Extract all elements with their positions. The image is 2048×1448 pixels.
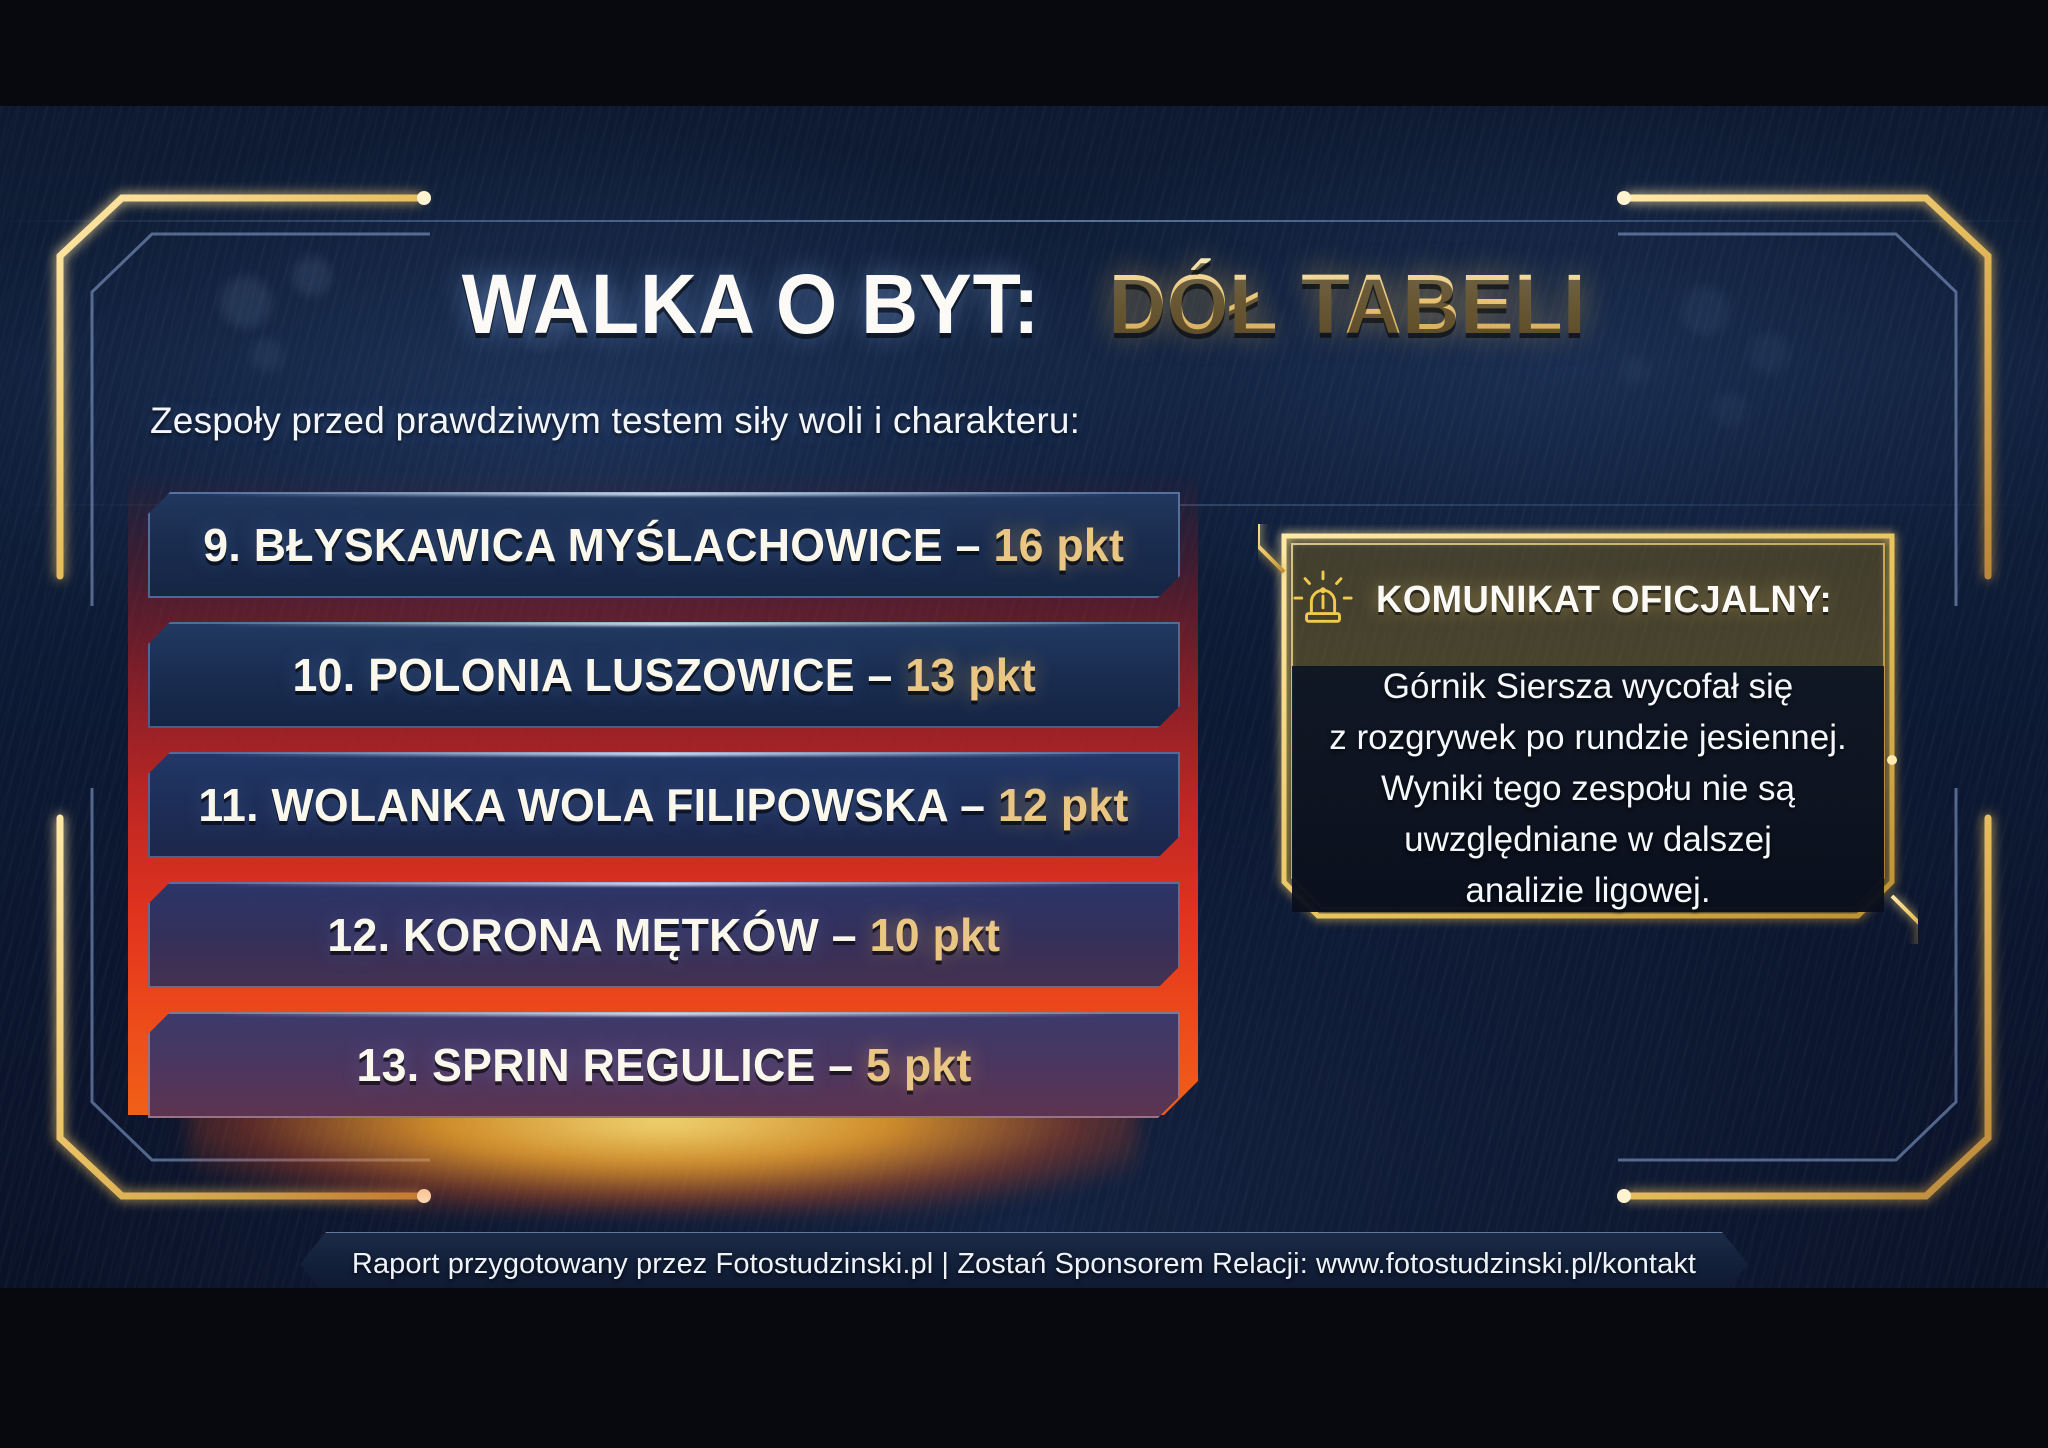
row-points: 12 pkt <box>998 779 1129 831</box>
table-row[interactable]: 9. BŁYSKAWICA MYŚLACHOWICE – 16 pkt <box>148 492 1180 598</box>
horizon-glow-line <box>0 220 2048 222</box>
row-rank: 9. <box>204 519 242 571</box>
panel-header: KOMUNIKAT OFICJALNY: <box>1292 552 1884 648</box>
row-dash: – <box>828 1039 853 1091</box>
row-rank: 13. <box>356 1039 419 1091</box>
row-team: WOLANKA WOLA FILIPOWSKA <box>272 779 948 831</box>
table-row[interactable]: 12. KORONA MĘTKÓW – 10 pkt <box>148 882 1180 988</box>
bokeh-light <box>1712 392 1748 428</box>
row-rank: 11. <box>199 779 259 831</box>
row-sheen <box>210 1012 1118 1016</box>
infographic-canvas: WALKA O BYT: DÓŁ TABELI Zespoły przed pr… <box>0 0 2048 1448</box>
row-dash: – <box>832 909 857 961</box>
row-rank: 10. <box>292 649 355 701</box>
page-subtitle: Zespoły przed prawdziwym testem siły wol… <box>150 400 1130 442</box>
row-points: 16 pkt <box>994 519 1125 571</box>
announcement-line: Górnik Siersza wycofał się <box>1383 665 1793 709</box>
row-sheen <box>210 882 1118 886</box>
row-points: 13 pkt <box>905 649 1036 701</box>
row-dash: – <box>956 519 981 571</box>
row-team: BŁYSKAWICA MYŚLACHOWICE <box>254 519 943 571</box>
announcement-line: z rozgrywek po rundzie jesiennej. <box>1329 716 1846 760</box>
row-team: SPRIN REGULICE <box>432 1039 815 1091</box>
panel-title: KOMUNIKAT OFICJALNY: <box>1376 579 1832 622</box>
panel-body: Górnik Siersza wycofał się z rozgrywek p… <box>1292 666 1884 912</box>
table-row[interactable]: 11. WOLANKA WOLA FILIPOWSKA – 12 pkt <box>148 752 1180 858</box>
table-row[interactable]: 13. SPRIN REGULICE – 5 pkt <box>148 1012 1180 1118</box>
announcement-line: uwzględniane w dalszej <box>1404 818 1772 862</box>
siren-icon <box>1292 569 1354 631</box>
announcement-line: Wyniki tego zespołu nie są <box>1381 767 1795 811</box>
row-text: 9. BŁYSKAWICA MYŚLACHOWICE – 16 pkt <box>204 518 1125 572</box>
row-team: POLONIA LUSZOWICE <box>368 649 855 701</box>
bokeh-light <box>1620 356 1650 386</box>
page-title: WALKA O BYT: DÓŁ TABELI <box>61 262 1986 346</box>
row-text: 13. SPRIN REGULICE – 5 pkt <box>356 1038 971 1092</box>
letterbox-top <box>0 0 2048 106</box>
row-team: KORONA MĘTKÓW <box>403 909 819 961</box>
title-gold-part: DÓŁ TABELI <box>1109 257 1586 351</box>
row-sheen <box>210 752 1118 756</box>
table-row[interactable]: 10. POLONIA LUSZOWICE – 13 pkt <box>148 622 1180 728</box>
footer-text: Raport przygotowany przez Fotostudzinski… <box>352 1248 1696 1281</box>
row-dash: – <box>961 779 986 831</box>
row-points: 5 pkt <box>866 1039 972 1091</box>
row-points: 10 pkt <box>870 909 1001 961</box>
row-sheen <box>210 622 1118 626</box>
footer-bar: Raport przygotowany przez Fotostudzinski… <box>300 1232 1748 1296</box>
announcement-line: analizie ligowej. <box>1465 869 1710 913</box>
row-text: 10. POLONIA LUSZOWICE – 13 pkt <box>292 648 1036 702</box>
row-sheen <box>210 492 1118 496</box>
row-text: 12. KORONA MĘTKÓW – 10 pkt <box>328 908 1001 962</box>
official-announcement-panel: KOMUNIKAT OFICJALNY: Górnik Siersza wyco… <box>1258 524 1918 944</box>
letterbox-bottom <box>0 1288 2048 1448</box>
row-dash: – <box>867 649 892 701</box>
row-rank: 12. <box>328 909 391 961</box>
title-white-part: WALKA O BYT: <box>462 257 1041 351</box>
row-text: 11. WOLANKA WOLA FILIPOWSKA – 12 pkt <box>199 778 1129 832</box>
